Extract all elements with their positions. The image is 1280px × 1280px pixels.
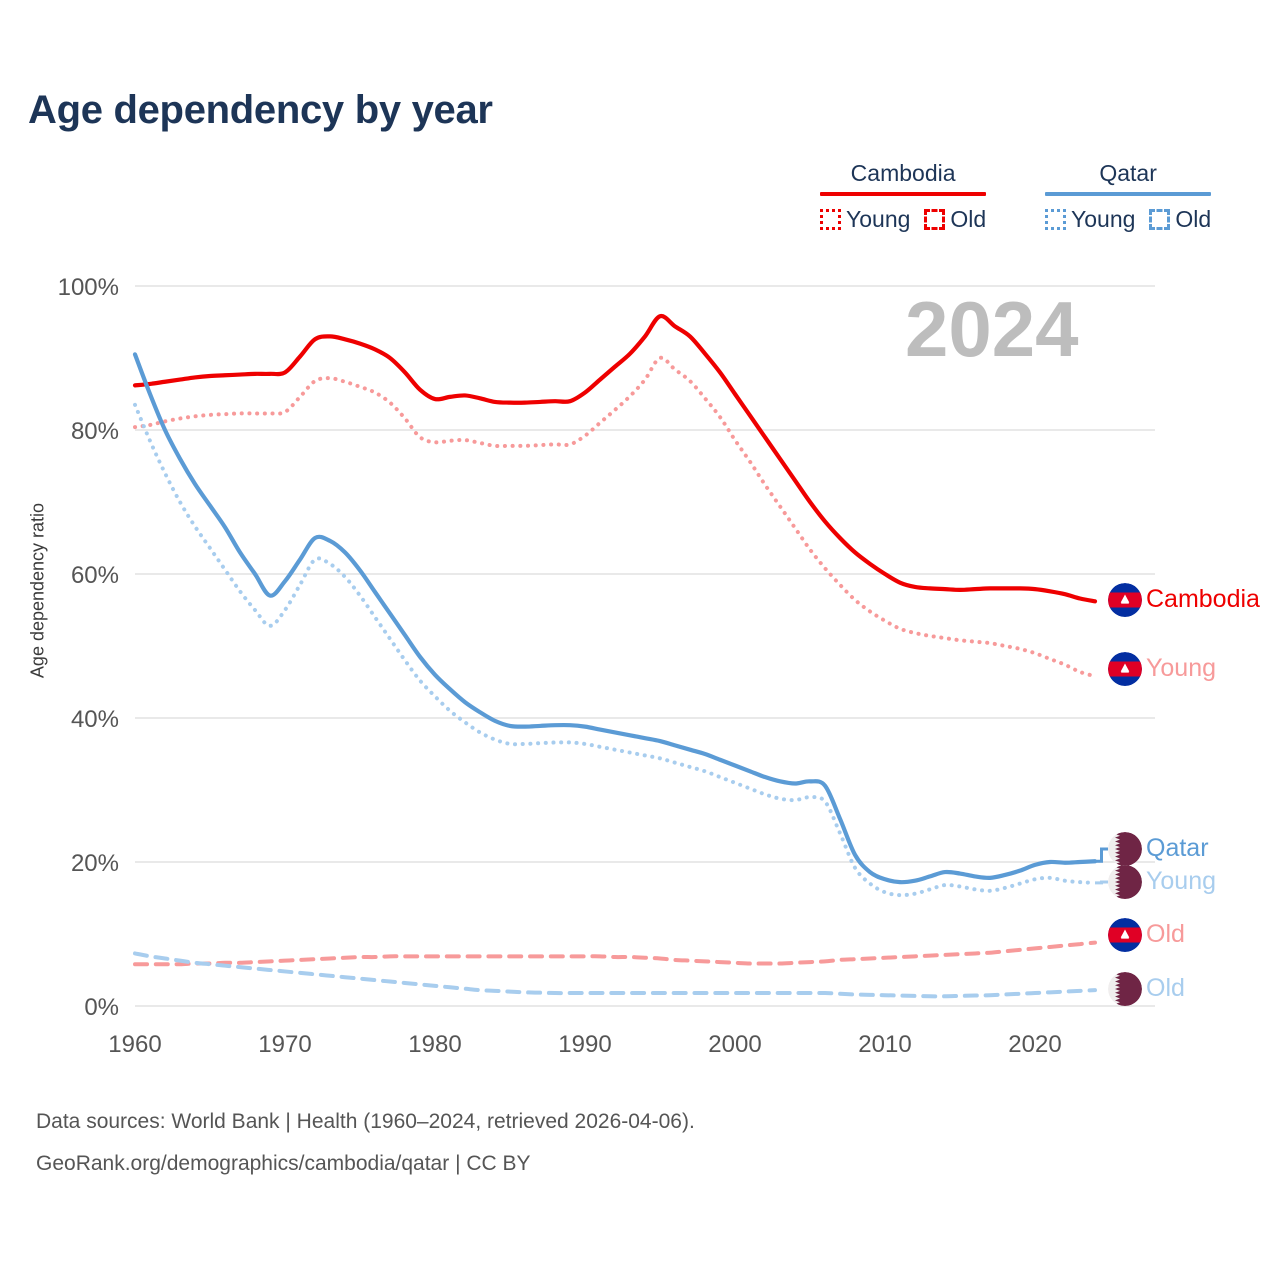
series-label: Qatar: [1146, 836, 1209, 861]
series-label: Young: [1146, 869, 1216, 894]
series-line-cambodia: [135, 316, 1095, 601]
y-axis-tick-labels: 0%20%40%60%80%100%: [58, 274, 119, 1021]
x-tick-label: 1970: [258, 1031, 311, 1058]
series-line-qatar: [135, 354, 1095, 882]
series-lines: [135, 316, 1095, 996]
y-tick-label: 20%: [71, 850, 119, 877]
label-connector: [1095, 882, 1108, 883]
y-tick-label: 60%: [71, 562, 119, 589]
chart-root: Age dependency by year Cambodia Young Ol…: [0, 0, 1280, 1280]
label-connector: [1095, 849, 1108, 861]
series-line-cambodia-young: [135, 358, 1095, 676]
series-label: Young: [1146, 656, 1216, 681]
series-line-qatar-young: [135, 405, 1095, 895]
x-tick-label: 2020: [1008, 1031, 1061, 1058]
flag-marker-cambodia: [1108, 652, 1142, 686]
footer-data-sources: Data sources: World Bank | Health (1960–…: [36, 1110, 695, 1134]
y-tick-label: 0%: [84, 994, 119, 1021]
series-label: Cambodia: [1146, 587, 1260, 612]
flag-marker-qatar: [1108, 865, 1142, 899]
y-tick-label: 80%: [71, 418, 119, 445]
flag-marker-qatar: [1108, 972, 1142, 1006]
plot-area: 0%20%40%60%80%100% 196019701980199020002…: [0, 0, 1280, 1080]
flag-marker-qatar: [1108, 832, 1142, 866]
footer-attribution: GeoRank.org/demographics/cambodia/qatar …: [36, 1152, 531, 1176]
flag-marker-cambodia: [1108, 918, 1142, 952]
series-label: Old: [1146, 922, 1185, 947]
series-line-cambodia-old: [135, 943, 1095, 965]
x-tick-label: 1990: [558, 1031, 611, 1058]
x-tick-label: 2000: [708, 1031, 761, 1058]
label-connectors: [1095, 849, 1108, 883]
y-tick-label: 40%: [71, 706, 119, 733]
y-tick-label: 100%: [58, 274, 119, 301]
x-axis-tick-labels: 1960197019801990200020102020: [108, 1031, 1061, 1058]
x-tick-label: 1960: [108, 1031, 161, 1058]
flag-marker-cambodia: [1108, 583, 1142, 617]
series-label: Old: [1146, 976, 1185, 1001]
x-tick-label: 1980: [408, 1031, 461, 1058]
x-tick-label: 2010: [858, 1031, 911, 1058]
